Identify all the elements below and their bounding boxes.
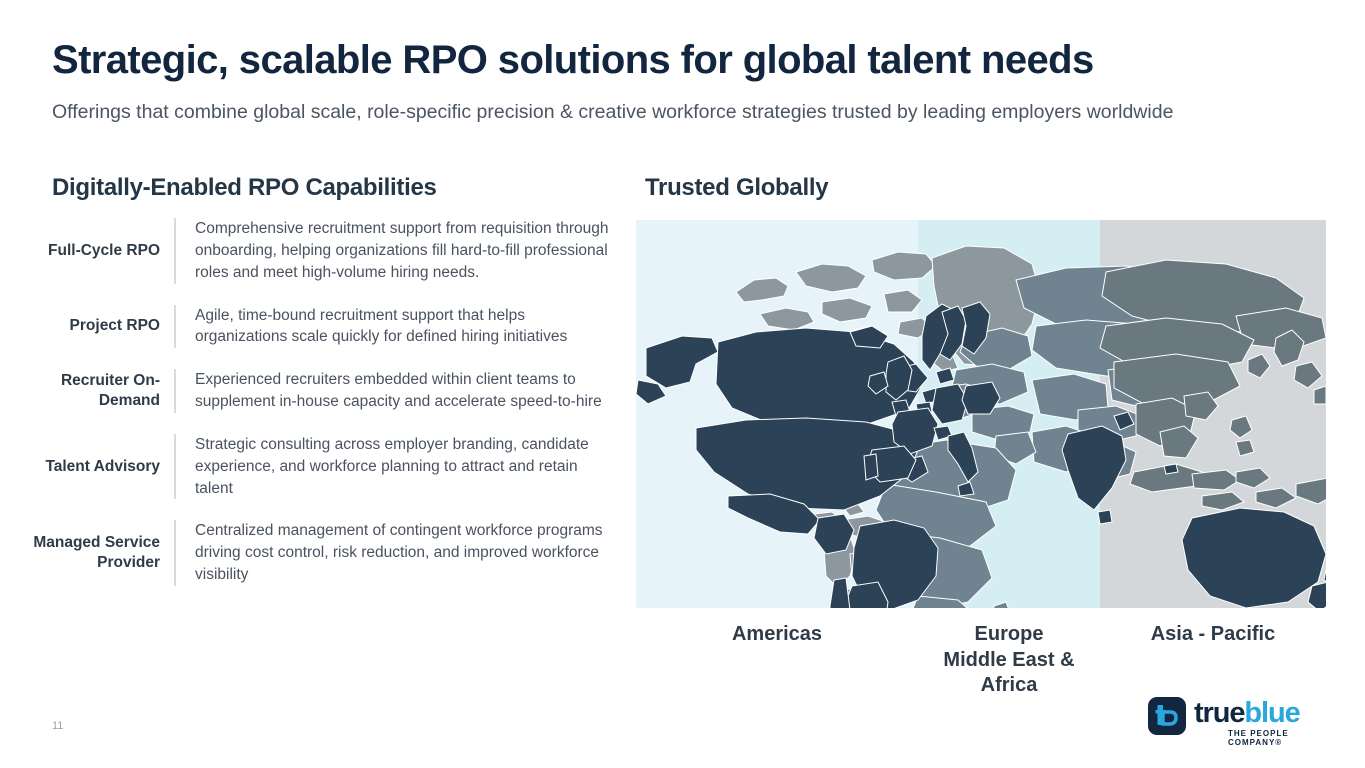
capability-description: Experienced recruiters embedded within c… bbox=[176, 369, 615, 413]
capability-description: Agile, time-bound recruitment support th… bbox=[176, 305, 615, 349]
map-landmass-layer bbox=[636, 220, 1326, 608]
page-title: Strategic, scalable RPO solutions for gl… bbox=[52, 38, 1322, 83]
capability-row: Talent Advisory Strategic consulting acr… bbox=[30, 434, 615, 500]
region-label-apac: Asia - Pacific bbox=[1100, 622, 1326, 648]
slide-canvas: Strategic, scalable RPO solutions for gl… bbox=[0, 0, 1365, 768]
capability-description: Comprehensive recruitment support from r… bbox=[176, 218, 615, 284]
logo-word-blue: blue bbox=[1244, 697, 1299, 729]
trueblue-wordmark: trueblue bbox=[1194, 699, 1300, 728]
capability-label: Recruiter On-Demand bbox=[30, 369, 174, 413]
region-label-emea: EuropeMiddle East &Africa bbox=[918, 622, 1100, 699]
capability-label: Full-Cycle RPO bbox=[30, 218, 174, 284]
capability-label: Talent Advisory bbox=[30, 434, 174, 500]
logo-tagline: THE PEOPLE COMPANY® bbox=[1228, 729, 1320, 747]
right-section-heading: Trusted Globally bbox=[645, 174, 828, 202]
capability-description: Centralized management of contingent wor… bbox=[176, 520, 615, 586]
tb-monogram-glyph bbox=[1155, 703, 1179, 729]
logo-word-true: true bbox=[1194, 697, 1244, 729]
capability-row: Managed Service Provider Centralized man… bbox=[30, 520, 615, 586]
world-map bbox=[636, 220, 1326, 608]
capability-list: Full-Cycle RPO Comprehensive recruitment… bbox=[30, 218, 615, 586]
capability-label: Managed Service Provider bbox=[30, 520, 174, 586]
map-unhighlighted-countries-apac bbox=[1100, 260, 1326, 510]
region-label-americas: Americas bbox=[636, 622, 918, 648]
capability-row: Project RPO Agile, time-bound recruitmen… bbox=[30, 305, 615, 349]
capability-label: Project RPO bbox=[30, 305, 174, 349]
capability-row: Recruiter On-Demand Experienced recruite… bbox=[30, 369, 615, 413]
left-section-heading: Digitally-Enabled RPO Capabilities bbox=[52, 174, 437, 202]
page-number: 11 bbox=[52, 720, 63, 732]
page-subtitle: Offerings that combine global scale, rol… bbox=[52, 99, 1252, 127]
trueblue-monogram-icon bbox=[1148, 697, 1186, 735]
trueblue-logo: trueblue THE PEOPLE COMPANY® bbox=[1148, 697, 1320, 741]
capability-description: Strategic consulting across employer bra… bbox=[176, 434, 615, 500]
capability-row: Full-Cycle RPO Comprehensive recruitment… bbox=[30, 218, 615, 284]
